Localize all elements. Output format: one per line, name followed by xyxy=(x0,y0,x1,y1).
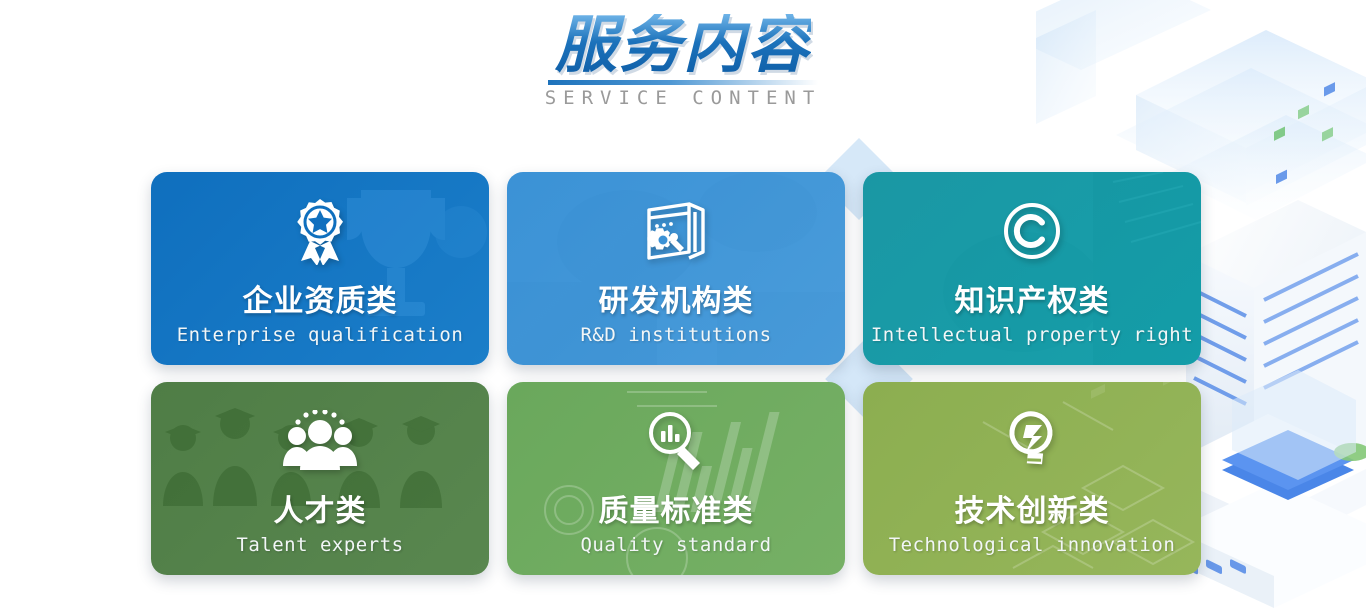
service-card-technological-innovation[interactable]: 技术创新类 Technological innovation xyxy=(863,382,1201,575)
card-subtitle: Quality standard xyxy=(580,534,771,556)
card-subtitle: Enterprise qualification xyxy=(177,324,464,346)
award-ribbon-icon xyxy=(289,198,351,264)
card-title: 企业资质类 xyxy=(243,276,398,320)
card-title: 人才类 xyxy=(274,486,367,530)
magnifier-chart-icon xyxy=(644,408,708,474)
service-card-rd-institutions[interactable]: 研发机构类 R&D institutions xyxy=(507,172,845,365)
card-title: 技术创新类 xyxy=(955,486,1110,530)
card-title: 研发机构类 xyxy=(599,276,754,320)
page-title: 服务内容 xyxy=(555,14,811,76)
card-subtitle: Talent experts xyxy=(236,534,403,556)
card-title: 知识产权类 xyxy=(955,276,1110,320)
service-card-grid: 企业资质类 Enterprise qualification xyxy=(151,172,1217,575)
service-card-enterprise-qualification[interactable]: 企业资质类 Enterprise qualification xyxy=(151,172,489,365)
people-group-icon xyxy=(283,408,357,474)
copyright-icon xyxy=(1001,198,1063,264)
window-gear-icon xyxy=(643,198,709,264)
card-title: 质量标准类 xyxy=(599,486,754,530)
lightbulb-bolt-icon xyxy=(1000,408,1064,474)
service-card-quality-standard[interactable]: 质量标准类 Quality standard xyxy=(507,382,845,575)
service-card-talent-experts[interactable]: 人才类 Talent experts xyxy=(151,382,489,575)
page-subtitle: SERVICE CONTENT xyxy=(0,87,1366,109)
card-subtitle: R&D institutions xyxy=(580,324,771,346)
service-card-intellectual-property[interactable]: 知识产权类 Intellectual property right xyxy=(863,172,1201,365)
card-subtitle: Intellectual property right xyxy=(871,324,1193,346)
page-header: 服务内容 SERVICE CONTENT xyxy=(0,14,1366,109)
card-subtitle: Technological innovation xyxy=(889,534,1176,556)
